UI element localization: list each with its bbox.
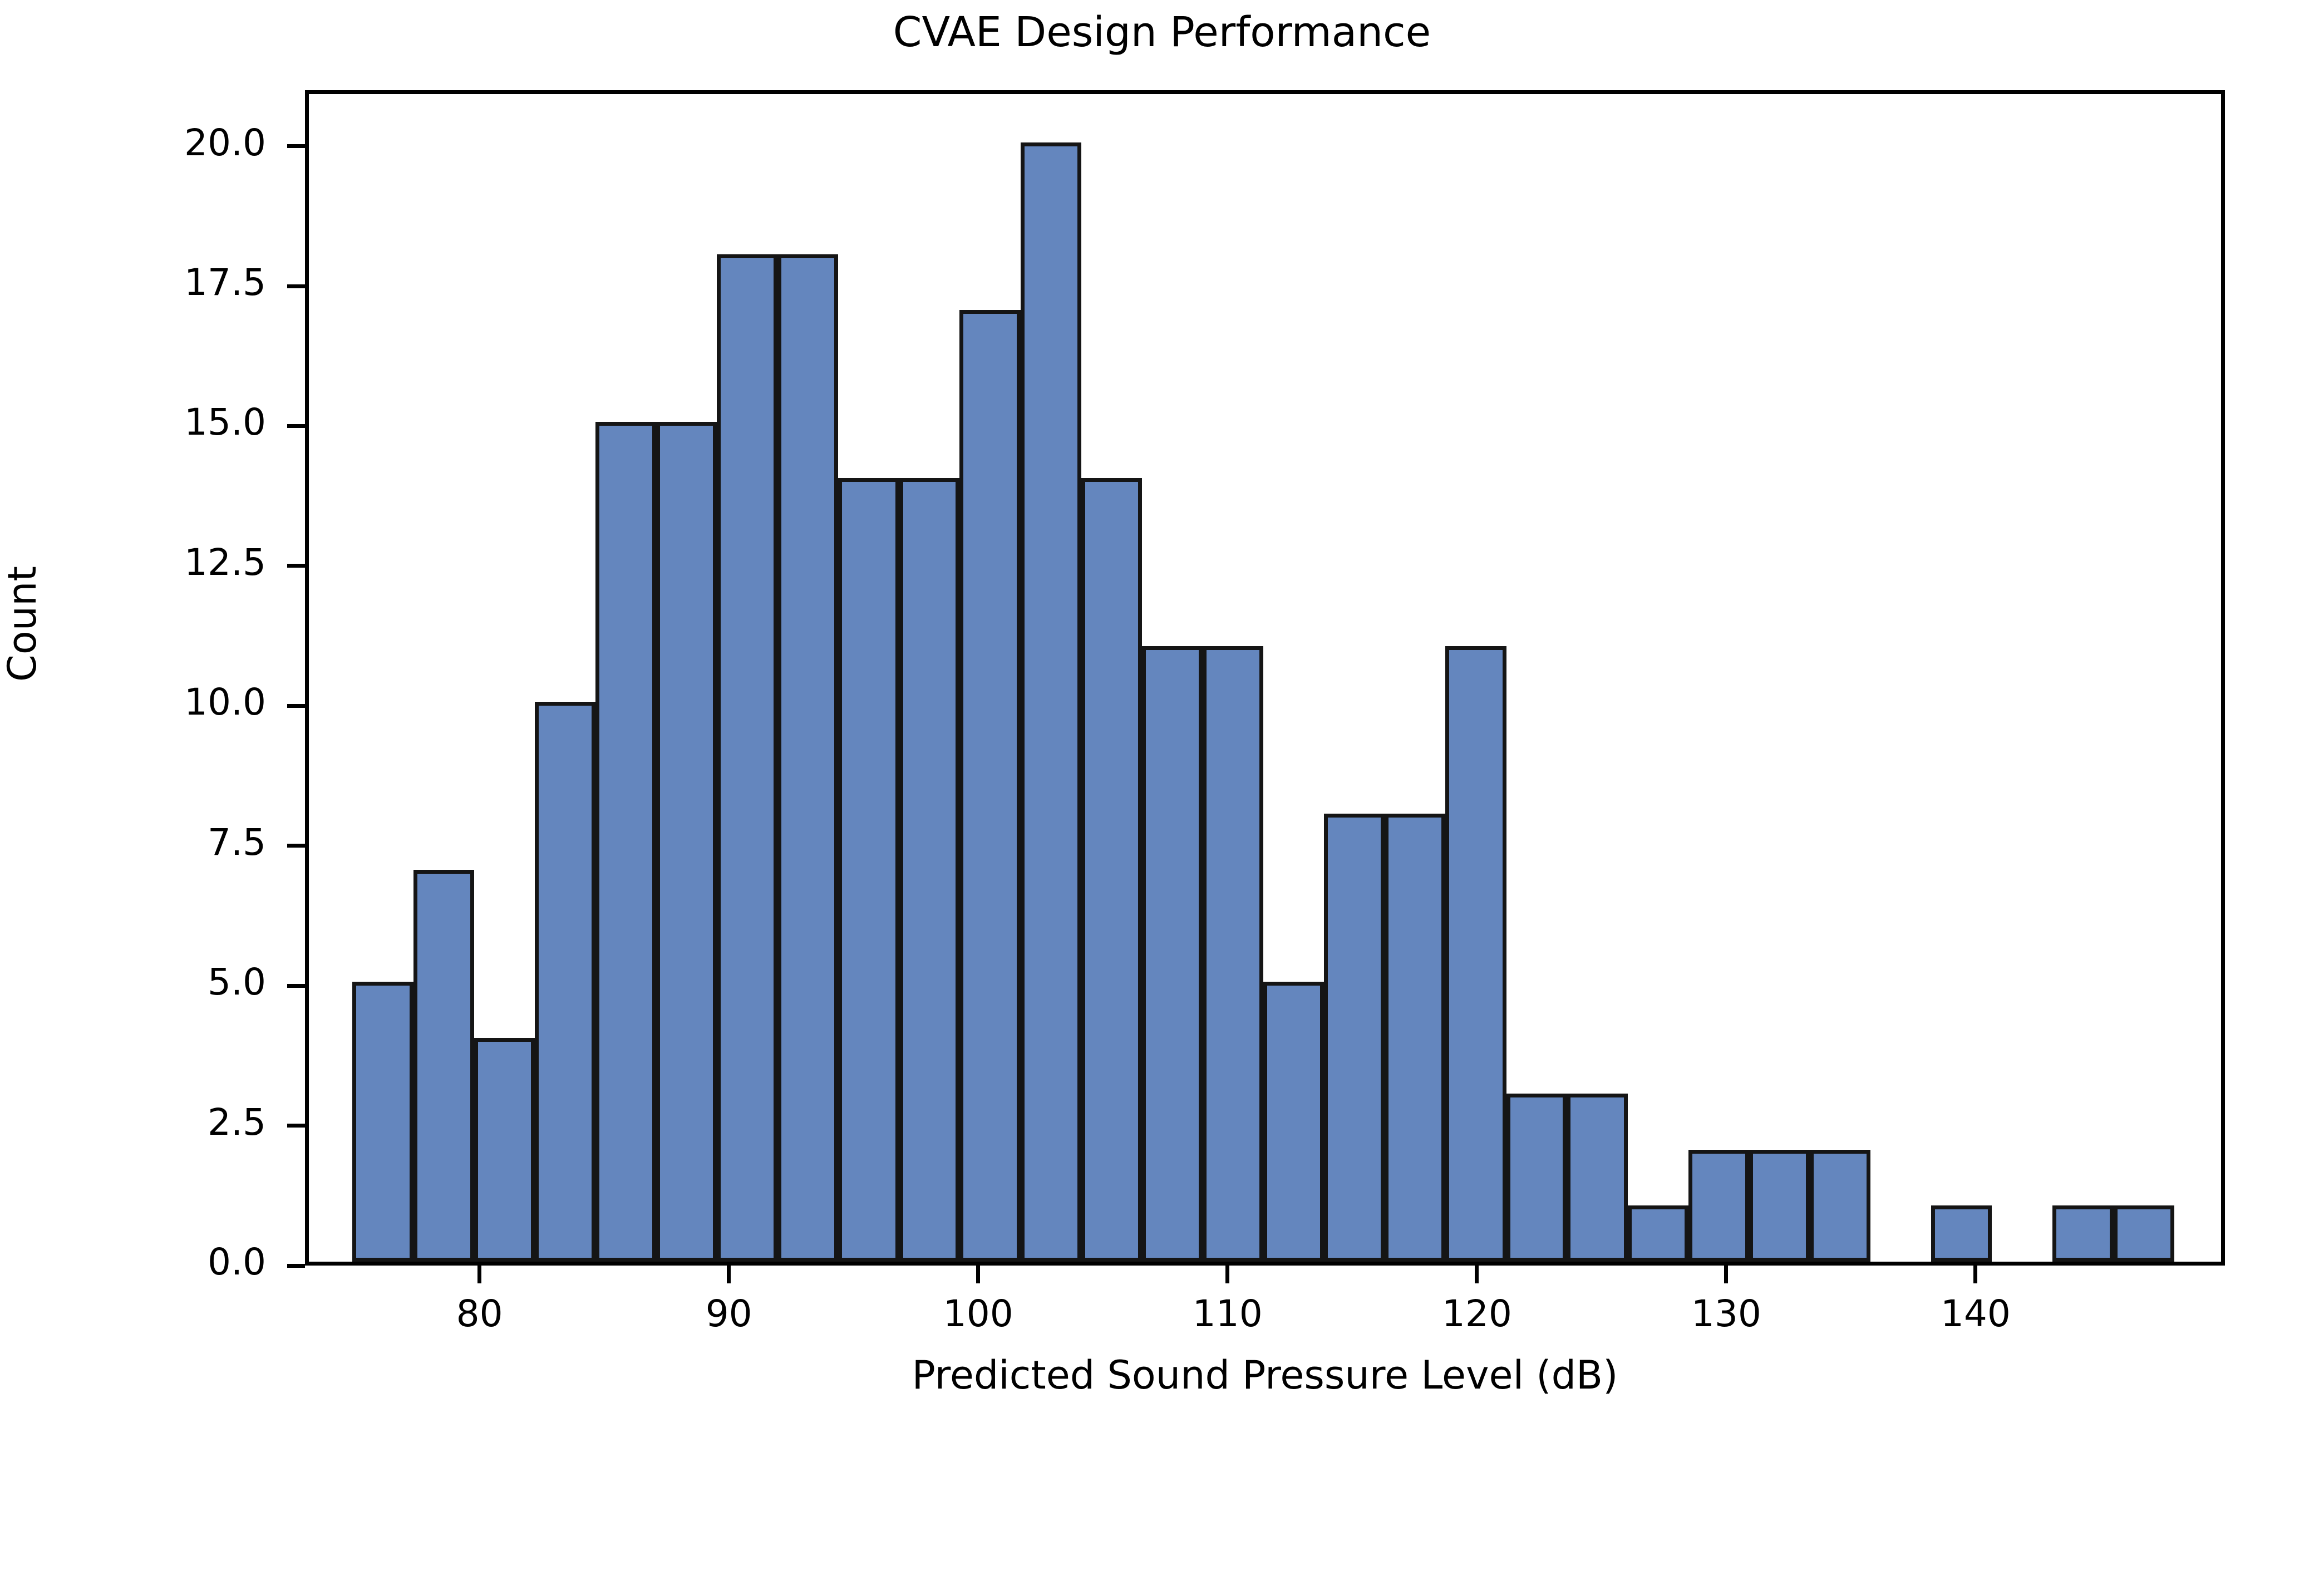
histogram-bar bbox=[1142, 646, 1203, 1262]
histogram-bar bbox=[2052, 1205, 2113, 1262]
histogram-bar bbox=[1931, 1205, 1992, 1262]
histogram-bar bbox=[838, 478, 899, 1262]
histogram-bar bbox=[1021, 142, 1081, 1262]
chart-title: CVAE Design Performance bbox=[0, 4, 2324, 60]
y-axis-tick-label: 15.0 bbox=[99, 401, 266, 444]
y-axis-tick-mark bbox=[287, 704, 305, 708]
y-axis-tick-mark bbox=[287, 144, 305, 148]
x-axis-tick-label: 110 bbox=[1193, 1292, 1263, 1335]
histogram-bar bbox=[1628, 1205, 1688, 1262]
y-axis-tick-label: 0.0 bbox=[99, 1241, 266, 1283]
y-axis-tick-mark bbox=[287, 424, 305, 428]
x-axis-tick-label: 80 bbox=[456, 1292, 503, 1335]
histogram-bar bbox=[2114, 1205, 2174, 1262]
x-axis-tick-mark bbox=[1475, 1266, 1479, 1283]
y-axis-tick-label: 5.0 bbox=[99, 961, 266, 1003]
histogram-bar bbox=[1749, 1150, 1810, 1262]
x-axis-tick-label: 90 bbox=[706, 1292, 752, 1335]
x-axis-tick-mark bbox=[1973, 1266, 1977, 1283]
y-axis-tick-label: 20.0 bbox=[99, 121, 266, 164]
x-axis-tick-mark bbox=[1724, 1266, 1728, 1283]
histogram-bar bbox=[1445, 646, 1506, 1262]
plot-area bbox=[309, 94, 2221, 1262]
histogram-bar bbox=[1688, 1150, 1749, 1262]
histogram-bar bbox=[1385, 814, 1445, 1262]
histogram-bar bbox=[899, 478, 960, 1262]
x-axis-tick-label: 100 bbox=[943, 1292, 1013, 1335]
y-axis-tick-mark bbox=[287, 984, 305, 988]
histogram-figure: CVAE Design Performance 0.02.55.07.510.0… bbox=[0, 0, 2324, 1585]
histogram-bar bbox=[474, 1038, 535, 1262]
histogram-bar bbox=[1081, 478, 1142, 1262]
histogram-bar bbox=[656, 422, 717, 1262]
histogram-bar bbox=[717, 254, 777, 1262]
histogram-bar bbox=[1506, 1094, 1567, 1262]
y-axis-tick-mark bbox=[287, 284, 305, 288]
histogram-bar bbox=[959, 310, 1020, 1262]
y-axis-tick-label: 12.5 bbox=[99, 541, 266, 584]
x-axis-tick-label: 130 bbox=[1691, 1292, 1761, 1335]
y-axis-tick-label: 10.0 bbox=[99, 681, 266, 723]
histogram-bar bbox=[1203, 646, 1263, 1262]
y-axis-tick-label: 7.5 bbox=[99, 821, 266, 864]
histogram-bar bbox=[413, 870, 474, 1262]
y-axis-label: Count bbox=[0, 373, 45, 874]
plot-frame bbox=[305, 90, 2225, 1266]
x-axis-tick-mark bbox=[976, 1266, 980, 1283]
histogram-bar bbox=[1810, 1150, 1870, 1262]
y-axis-tick-label: 2.5 bbox=[99, 1101, 266, 1144]
histogram-bar bbox=[777, 254, 838, 1262]
x-axis-tick-mark bbox=[1225, 1266, 1229, 1283]
histogram-bar bbox=[1324, 814, 1385, 1262]
x-axis-tick-mark bbox=[477, 1266, 481, 1283]
histogram-bar bbox=[535, 702, 595, 1262]
y-axis-tick-label: 17.5 bbox=[99, 261, 266, 304]
x-axis-tick-mark bbox=[727, 1266, 731, 1283]
y-axis-tick-mark bbox=[287, 844, 305, 848]
x-axis-tick-label: 140 bbox=[1941, 1292, 2011, 1335]
x-axis-tick-label: 120 bbox=[1442, 1292, 1512, 1335]
histogram-bar bbox=[1263, 982, 1324, 1262]
y-axis-tick-mark bbox=[287, 1264, 305, 1268]
x-axis-label: Predicted Sound Pressure Level (dB) bbox=[305, 1352, 2225, 1398]
histogram-bar bbox=[595, 422, 656, 1262]
y-axis-tick-mark bbox=[287, 564, 305, 568]
histogram-bar bbox=[1567, 1094, 1627, 1262]
histogram-bar bbox=[352, 982, 413, 1262]
y-axis-tick-mark bbox=[287, 1124, 305, 1128]
